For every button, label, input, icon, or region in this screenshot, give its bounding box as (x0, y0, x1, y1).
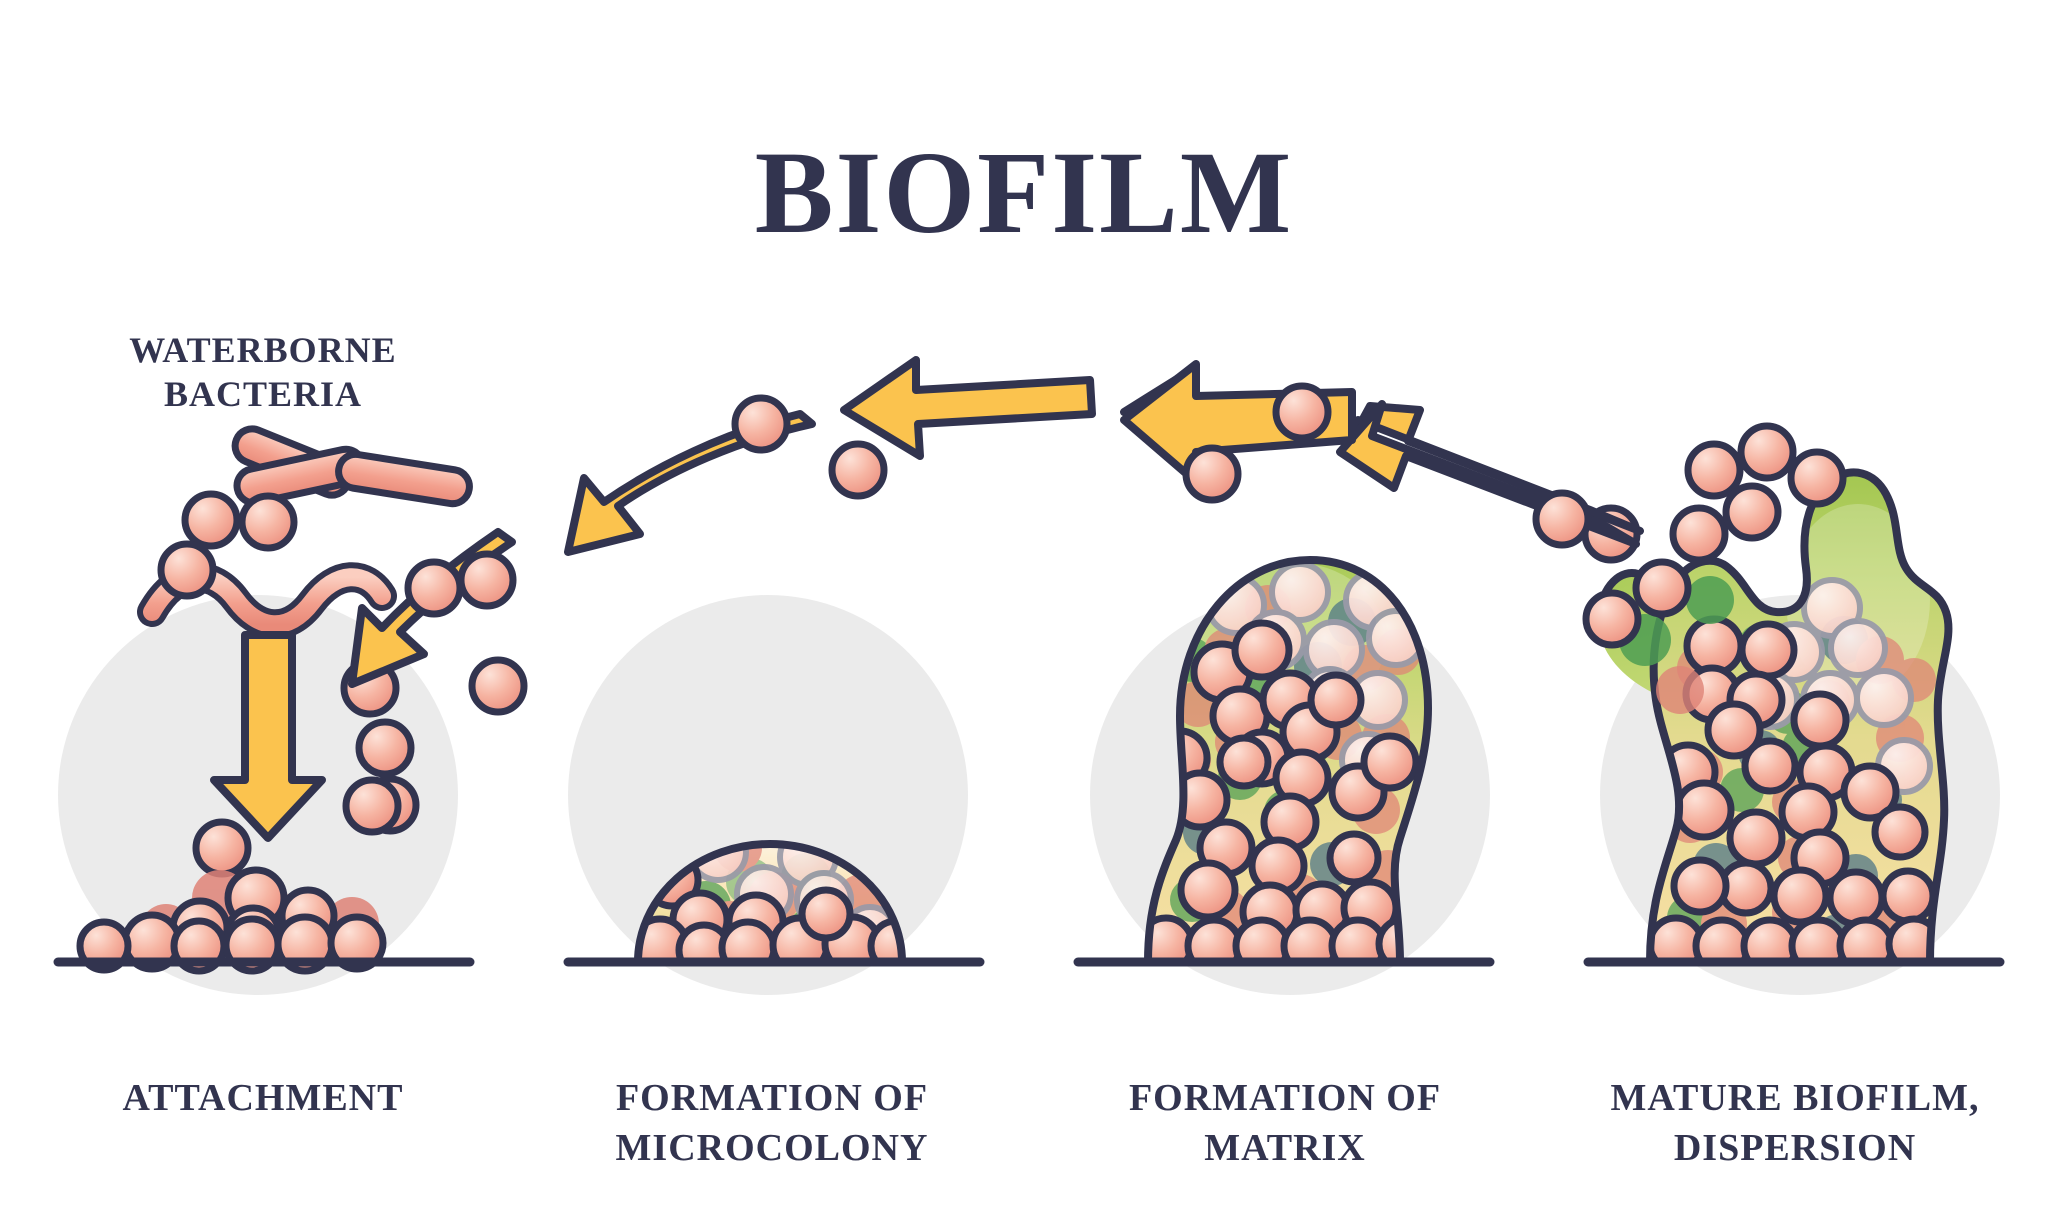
stage-label-dispersion-line2: DISPERSION (1674, 1127, 1916, 1169)
coccus-cell-icon (1364, 736, 1416, 788)
coccus-cell-faded-icon (1857, 671, 1911, 725)
coccus-cell-icon (359, 722, 411, 774)
coccus-cell-icon (1186, 448, 1238, 500)
coccus-cell-icon (735, 398, 787, 450)
coccus-cell-icon (346, 780, 398, 832)
coccus-cell-icon (1774, 870, 1826, 922)
coccus-cell-icon (1688, 444, 1740, 496)
coccus-cell-icon (832, 444, 884, 496)
coccus-cell-icon (185, 494, 237, 546)
stage-label-matrix-line2: MATRIX (1204, 1127, 1366, 1169)
coccus-cell-icon (242, 496, 294, 548)
coccus-cell-icon (1311, 675, 1361, 725)
coccus-cell-icon (472, 660, 524, 712)
waterborne-bacteria-label-line2: BACTERIA (164, 374, 362, 414)
cell-blob (1686, 576, 1734, 624)
coccus-cell-icon (1586, 593, 1638, 645)
stage-label-matrix-line1: FORMATION OF (1129, 1077, 1441, 1119)
coccus-cell-icon (1536, 493, 1588, 545)
arrow-left-icon (844, 360, 1092, 456)
waterborne-bacteria-label-line1: WATERBORNE (129, 330, 396, 370)
coccus-cell-icon (1883, 871, 1933, 921)
coccus-cell-icon (1745, 741, 1795, 791)
biofilm-diagram: BIOFILM (0, 0, 2048, 1229)
coccus-cell-icon (1741, 426, 1793, 478)
coccus-cell-icon (1330, 834, 1378, 882)
coccus-cell-icon (161, 544, 213, 596)
stage-label-microcolony-line1: FORMATION OF (616, 1077, 928, 1119)
coccus-cell-icon (802, 890, 850, 938)
coccus-cell-icon (196, 822, 248, 874)
stage-label-dispersion-line1: MATURE BIOFILM, (1611, 1077, 1980, 1119)
coccus-cell-icon (1875, 807, 1925, 857)
coccus-cell-icon (1791, 452, 1843, 504)
arrow-left-icon (1340, 404, 1640, 544)
coccus-cell-icon (1674, 860, 1726, 912)
coccus-cell-faded-icon (1831, 621, 1885, 675)
coccus-cell-icon (1181, 863, 1235, 917)
coccus-cell-icon (1235, 623, 1289, 677)
stage-label-microcolony-line2: MICROCOLONY (616, 1127, 929, 1169)
diagram-canvas: BIOFILM (0, 0, 2048, 1229)
coccus-cell-icon (1673, 508, 1725, 560)
page-title: BIOFILM (755, 127, 1294, 258)
coccus-cell-icon (1742, 624, 1794, 676)
coccus-cell-icon (461, 554, 513, 606)
coccus-cell-icon (1276, 386, 1328, 438)
coccus-cell-icon (1830, 872, 1882, 924)
coccus-cell-icon (408, 562, 460, 614)
coccus-cell-icon (1636, 562, 1688, 614)
cell-blob (1656, 666, 1704, 714)
coccus-cell-icon (1726, 486, 1778, 538)
coccus-cell-icon (1794, 694, 1846, 746)
coccus-cell-icon (1220, 738, 1268, 786)
stage-label-attachment: ATTACHMENT (123, 1077, 404, 1119)
coccus-cell-icon (1730, 812, 1782, 864)
coccus-cell-icon (1677, 783, 1731, 837)
